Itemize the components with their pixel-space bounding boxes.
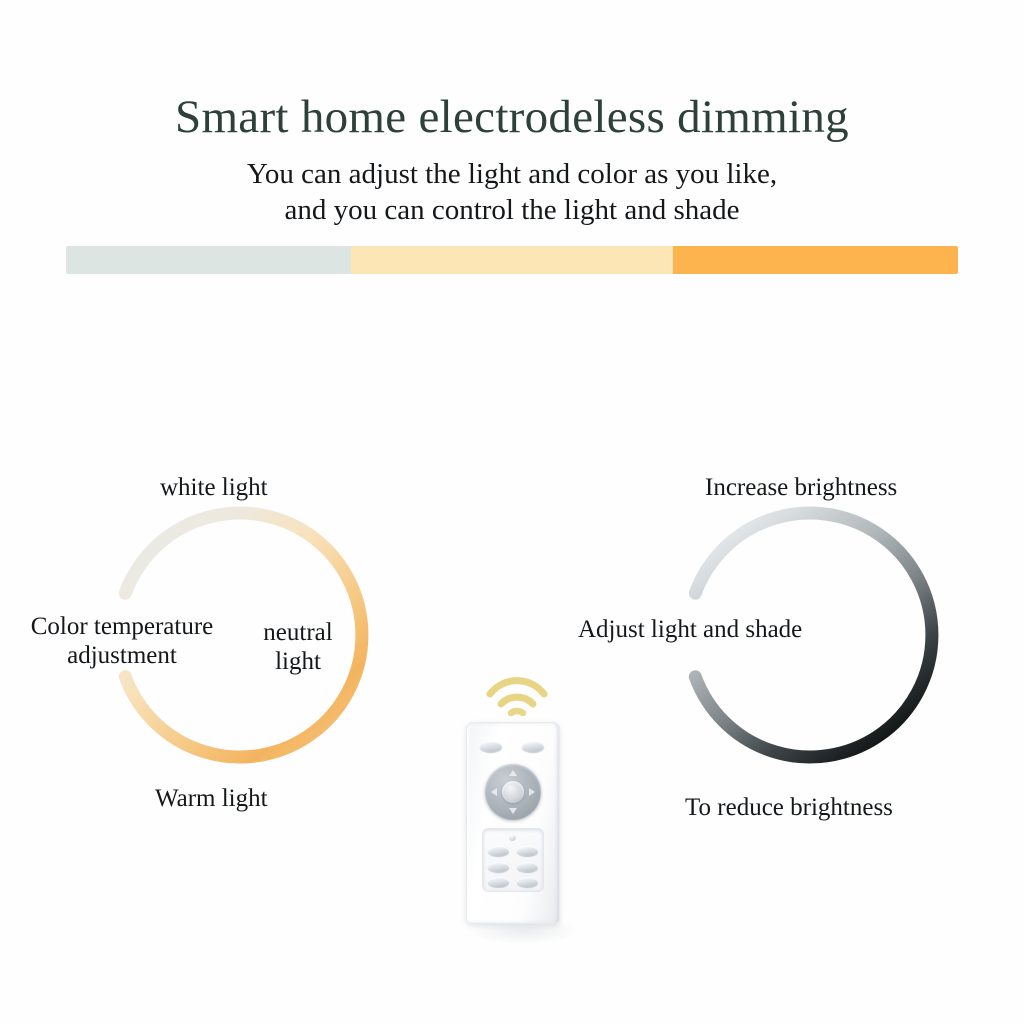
label-adjust-light-and-shade: Adjust light and shade [578,615,802,644]
wireless-signal-icon-svg [482,672,552,716]
dpad-down-arrow-icon[interactable] [509,808,517,814]
remote-power-off-button[interactable] [522,741,544,752]
remote-power-on-button[interactable] [480,741,502,752]
remote-scene-button-6[interactable] [517,877,538,887]
subtitle-line-1: You can adjust the light and color as yo… [0,156,1024,192]
header-block: Smart home electrodeless dimming You can… [0,92,1024,228]
remote-scene-button-5[interactable] [488,877,509,887]
wifi-arc-middle [501,697,533,704]
label-color-temperature-adjustment: Color temperature adjustment [2,612,242,670]
wifi-arc-inner [511,711,523,713]
wireless-signal-icon [482,672,552,716]
gradient-bar-segment-cool-white [66,246,351,274]
remote-status-led [509,834,516,841]
color-temperature-gradient-bar [66,246,958,274]
remote-directional-pad[interactable] [485,764,541,820]
dpad-up-arrow-icon[interactable] [509,770,517,776]
dpad-right-arrow-icon[interactable] [529,788,535,796]
remote-scene-button-2[interactable] [517,846,538,856]
subtitle-line-2: and you can control the light and shade [0,192,1024,228]
remote-body [466,722,560,924]
led-remote-control[interactable] [466,722,558,922]
remote-scene-button-1[interactable] [488,846,509,856]
wifi-arc-outer [490,681,544,694]
dpad-ok-button[interactable] [502,781,524,803]
remote-scene-button-4[interactable] [517,862,538,872]
page-title: Smart home electrodeless dimming [0,92,1024,143]
label-increase-brightness: Increase brightness [705,473,897,502]
dpad-left-arrow-icon[interactable] [491,788,497,796]
label-warm-light: Warm light [155,784,268,813]
label-white-light: white light [160,473,268,502]
remote-keypad-panel [483,829,543,891]
subtitle-block: You can adjust the light and color as yo… [0,156,1024,229]
gradient-bar-segment-neutral [351,246,672,274]
gradient-bar-segment-warm [673,246,958,274]
remote-scene-button-3[interactable] [488,862,509,872]
label-neutral-light: neutral light [243,618,353,676]
label-reduce-brightness: To reduce brightness [685,793,893,822]
